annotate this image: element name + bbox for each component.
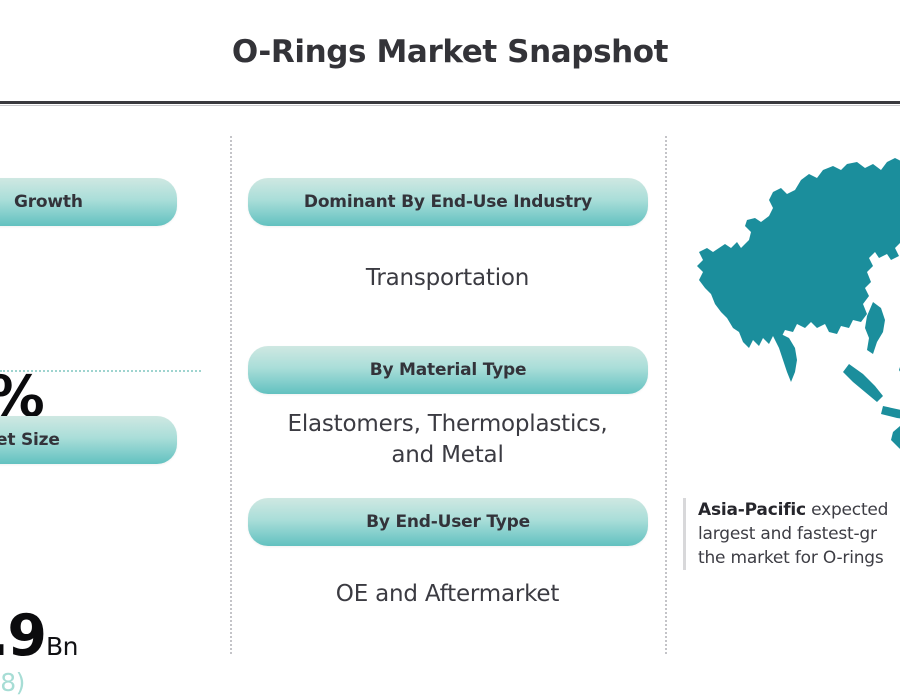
growth-pill: Growth [0,178,177,226]
end-use-industry-pill: Dominant By End-Use Industry [248,178,648,226]
end-user-type-pill-label: By End-User Type [366,512,530,532]
caption-line2: largest and fastest-gr [698,524,877,544]
material-type-value: Elastomers, Thermoplastics, and Metal [230,409,665,471]
caption-line3: the market for O-rings [698,548,884,568]
left-column: Growth 2% –2028) et Size 5.9 Bn 2028) [0,106,230,700]
end-use-industry-value: Transportation [230,263,665,294]
market-size-pill: et Size [0,416,177,464]
market-snapshot-infographic: O-Rings Market Snapshot Growth 2% –2028)… [0,0,900,700]
market-size-value-unit: Bn [46,632,78,661]
material-type-pill: By Material Type [248,346,648,394]
market-size-year-range: 2028) [0,668,25,697]
body-area: Growth 2% –2028) et Size 5.9 Bn 2028) Do… [0,106,900,700]
market-size-value-number: 5.9 [0,603,45,669]
left-column-horizontal-divider [0,370,201,372]
header-divider-rule [0,101,900,104]
end-use-industry-pill-label: Dominant By End-Use Industry [304,192,592,212]
growth-pill-label: Growth [14,192,83,212]
asia-pacific-caption: Asia-Pacific expected largest and fastes… [683,498,900,570]
market-size-pill-label: et Size [0,430,60,450]
caption-emphasis: Asia-Pacific [698,500,806,520]
header: O-Rings Market Snapshot [0,0,900,103]
center-column: Dominant By End-Use Industry Transportat… [230,106,665,700]
end-user-type-pill: By End-User Type [248,498,648,546]
page-title: O-Rings Market Snapshot [232,34,668,70]
caption-line1-rest: expected [806,500,888,520]
market-size-value: 5.9 Bn [0,603,78,669]
end-user-type-value: OE and Aftermarket [230,579,665,610]
asia-pacific-map-icon [677,132,900,462]
right-column: Asia-Pacific expected largest and fastes… [665,106,900,700]
material-type-pill-label: By Material Type [370,360,527,380]
